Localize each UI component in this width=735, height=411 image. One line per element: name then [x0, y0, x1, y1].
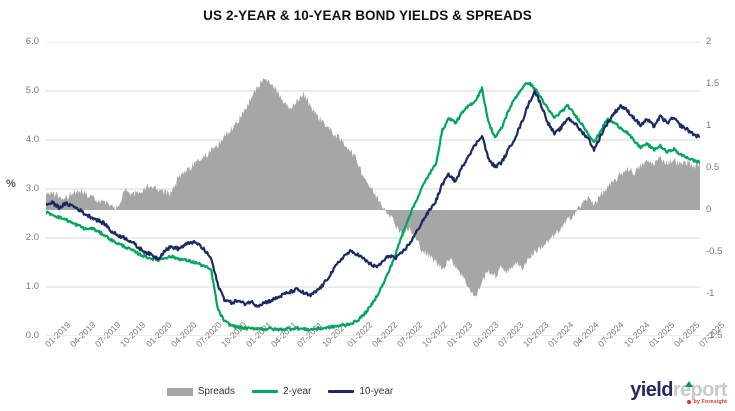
legend-item-2-year[interactable]: 2-year [252, 386, 311, 397]
y-tick-right: -1 [706, 288, 714, 299]
logo-word-secondary: report [673, 379, 727, 401]
plot-svg [46, 42, 700, 336]
y-tick-left: 2.0 [0, 232, 39, 243]
y-tick-left: 6.0 [0, 36, 39, 47]
yieldreport-logo[interactable]: yieldreport by Foresight [607, 380, 727, 408]
y-tick-left: 0.0 [0, 330, 39, 341]
chart-title: US 2-YEAR & 10-YEAR BOND YIELDS & SPREAD… [0, 8, 735, 23]
spreads-swatch-icon [167, 388, 193, 396]
logo-triangle-icon [685, 381, 693, 387]
y-tick-right: 1.5 [706, 78, 719, 89]
y-tick-right: -0.5 [706, 246, 722, 257]
chart-container: US 2-YEAR & 10-YEAR BOND YIELDS & SPREAD… [0, 0, 735, 411]
legend-item-spreads[interactable]: Spreads [167, 386, 235, 397]
legend-item-10-year[interactable]: 10-year [328, 386, 393, 397]
chart-legend: Spreads 2-year 10-year [0, 386, 560, 397]
y-tick-left: 4.0 [0, 134, 39, 145]
y-tick-right: 0.5 [706, 162, 719, 173]
logo-dot-icon [687, 400, 691, 404]
plot-area [46, 42, 700, 336]
y-tick-right: 1 [706, 120, 711, 131]
y-tick-right: 0 [706, 204, 711, 215]
logo-tagline: by Foresight [693, 399, 727, 405]
two-year-swatch-icon [252, 390, 278, 393]
y-tick-right: 2 [706, 36, 711, 47]
spreads-area [46, 78, 700, 297]
ten-year-swatch-icon [328, 390, 354, 393]
logo-word-primary: yield [630, 379, 673, 401]
y-tick-left: 5.0 [0, 85, 39, 96]
legend-label-10-year: 10-year [359, 386, 393, 397]
y-tick-left: 1.0 [0, 281, 39, 292]
legend-label-2-year: 2-year [283, 386, 311, 397]
y-tick-left: 3.0 [0, 183, 39, 194]
legend-label-spreads: Spreads [198, 386, 235, 397]
